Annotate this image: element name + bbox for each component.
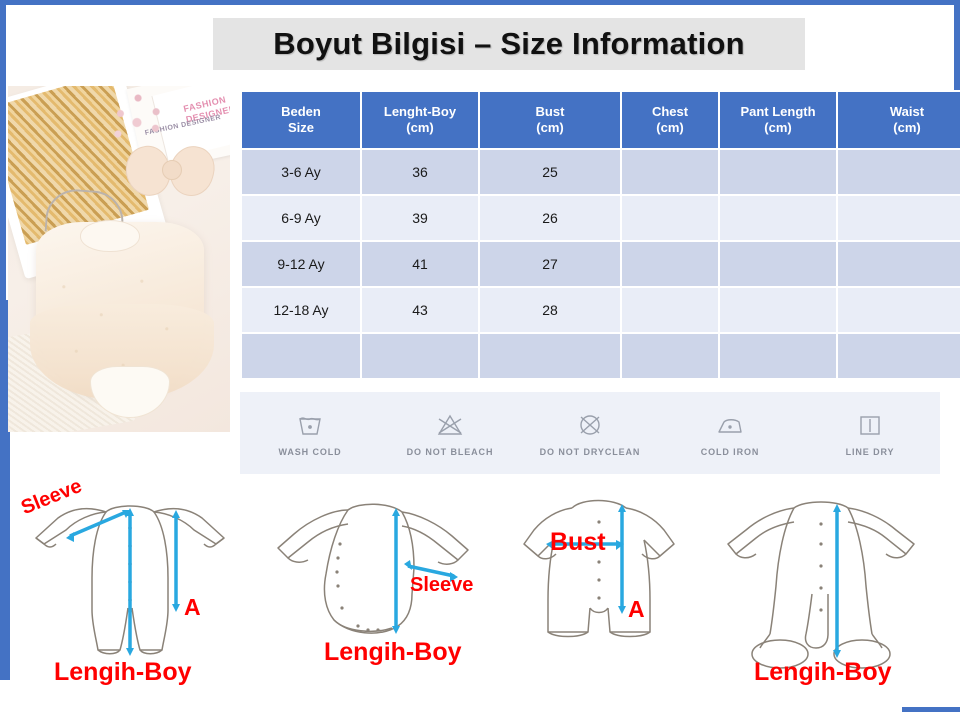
diagram-long-sleeve-romper: Sleeve A Lengih-Boy xyxy=(14,482,246,720)
cell-chest xyxy=(621,241,719,287)
header-waist: Waist (cm) xyxy=(837,91,960,149)
header-lenght-boy: Lenght-Boy (cm) xyxy=(361,91,479,149)
cell-pant-length xyxy=(719,287,837,333)
cell-lenght-boy xyxy=(361,333,479,379)
cell-pant-length xyxy=(719,195,837,241)
header-line1: Beden xyxy=(281,104,321,119)
cell-bust: 27 xyxy=(479,241,621,287)
care-label: WASH COLD xyxy=(278,447,341,457)
header-pant-length: Pant Length (cm) xyxy=(719,91,837,149)
frame-bar-left-upper xyxy=(0,0,6,300)
care-label: COLD IRON xyxy=(701,447,760,457)
header-line2: (cm) xyxy=(764,120,791,135)
header-line1: Chest xyxy=(652,104,688,119)
header-line2: Size xyxy=(288,120,314,135)
bow-knot xyxy=(162,160,182,180)
care-label: LINE DRY xyxy=(846,447,895,457)
header-line1: Waist xyxy=(890,104,924,119)
wash-cold-icon xyxy=(296,410,324,440)
dress-collar xyxy=(80,220,140,252)
header-line2: (cm) xyxy=(536,120,563,135)
cell-pant-length xyxy=(719,241,837,287)
care-item-cold-iron: COLD IRON xyxy=(667,410,793,457)
label-sleeve: Sleeve xyxy=(410,574,473,597)
diagram-long-sleeve-bodysuit: Sleeve Lengih-Boy xyxy=(262,482,500,720)
table-row: 6-9 Ay 39 26 xyxy=(241,195,960,241)
cell-waist xyxy=(837,333,960,379)
cell-waist xyxy=(837,195,960,241)
cell-lenght-boy: 39 xyxy=(361,195,479,241)
header-chest: Chest (cm) xyxy=(621,91,719,149)
cell-bust: 25 xyxy=(479,149,621,195)
page-title-banner: Boyut Bilgisi – Size Information xyxy=(213,18,805,70)
cell-chest xyxy=(621,149,719,195)
diagram-short-sleeve-romper: Bust A xyxy=(510,482,690,720)
sleepsuit-outline xyxy=(712,482,942,682)
label-bust: Bust xyxy=(550,528,606,557)
cell-size xyxy=(241,333,361,379)
label-length: Lengih-Boy xyxy=(324,638,462,667)
romper-outline xyxy=(14,482,246,682)
cell-bust: 28 xyxy=(479,287,621,333)
cell-chest xyxy=(621,195,719,241)
cell-pant-length xyxy=(719,149,837,195)
table-row: 12-18 Ay 43 28 xyxy=(241,287,960,333)
label-length: Lengih-Boy xyxy=(54,658,192,687)
measurement-diagrams: Sleeve A Lengih-Boy xyxy=(0,482,960,720)
page-title: Boyut Bilgisi – Size Information xyxy=(273,26,744,62)
frame-bar-top xyxy=(0,0,960,5)
header-line1: Bust xyxy=(536,104,565,119)
cell-chest xyxy=(621,287,719,333)
header-bust: Bust (cm) xyxy=(479,91,621,149)
header-line2: (cm) xyxy=(893,120,920,135)
table-row xyxy=(241,333,960,379)
care-label: DO NOT BLEACH xyxy=(407,447,494,457)
care-item-wash-cold: WASH COLD xyxy=(247,410,373,457)
cell-lenght-boy: 41 xyxy=(361,241,479,287)
header-line1: Pant Length xyxy=(740,104,815,119)
cell-bust: 26 xyxy=(479,195,621,241)
size-table-container: Beden Size Lenght-Boy (cm) Bust (cm) Che… xyxy=(240,90,940,380)
label-a: A xyxy=(628,596,645,623)
care-item-do-not-bleach: DO NOT BLEACH xyxy=(387,410,513,457)
header-line2: (cm) xyxy=(656,120,683,135)
cell-waist xyxy=(837,287,960,333)
table-header-row: Beden Size Lenght-Boy (cm) Bust (cm) Che… xyxy=(241,91,960,149)
cold-iron-icon xyxy=(715,410,745,440)
cell-size: 6-9 Ay xyxy=(241,195,361,241)
header-line1: Lenght-Boy xyxy=(384,104,456,119)
short-romper-outline xyxy=(510,482,690,672)
cell-waist xyxy=(837,149,960,195)
care-item-line-dry: LINE DRY xyxy=(807,410,933,457)
label-a: A xyxy=(184,594,201,621)
care-item-do-not-dryclean: DO NOT DRYCLEAN xyxy=(527,410,653,457)
cell-pant-length xyxy=(719,333,837,379)
table-row: 3-6 Ay 36 25 xyxy=(241,149,960,195)
line-dry-icon xyxy=(857,410,883,440)
cell-waist xyxy=(837,241,960,287)
cell-size: 3-6 Ay xyxy=(241,149,361,195)
cell-bust xyxy=(479,333,621,379)
cell-size: 12-18 Ay xyxy=(241,287,361,333)
product-photo: FASHION DESIGNER FASHION DESIGNER xyxy=(8,86,230,432)
table-row: 9-12 Ay 41 27 xyxy=(241,241,960,287)
cell-lenght-boy: 43 xyxy=(361,287,479,333)
size-chart-page: Boyut Bilgisi – Size Information FASHION… xyxy=(0,0,960,720)
size-table: Beden Size Lenght-Boy (cm) Bust (cm) Che… xyxy=(240,90,960,380)
header-line2: (cm) xyxy=(406,120,433,135)
cell-size: 9-12 Ay xyxy=(241,241,361,287)
label-length: Lengih-Boy xyxy=(754,658,892,687)
care-label: DO NOT DRYCLEAN xyxy=(540,447,641,457)
diagram-footed-sleepsuit: Lengih-Boy xyxy=(712,482,942,720)
do-not-dryclean-icon xyxy=(576,410,604,440)
do-not-bleach-icon xyxy=(435,410,465,440)
cell-chest xyxy=(621,333,719,379)
cell-lenght-boy: 36 xyxy=(361,149,479,195)
care-instructions-row: WASH COLD DO NOT BLEACH DO NOT DRYCL xyxy=(240,392,940,474)
header-beden-size: Beden Size xyxy=(241,91,361,149)
